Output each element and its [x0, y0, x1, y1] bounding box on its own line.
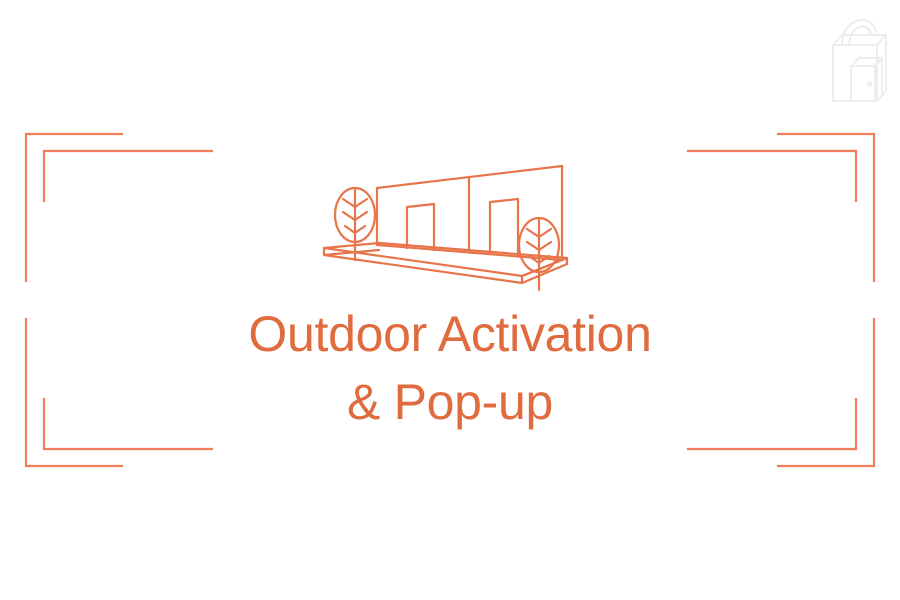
bracket-top-right-inner: [687, 151, 856, 202]
outdoor-storefront-illustration-svg: [322, 152, 578, 300]
title-line-2: & Pop-up: [0, 368, 900, 436]
shopping-bag-icon: [818, 8, 894, 108]
bracket-top-left-inner: [44, 151, 213, 202]
title-line-1: Outdoor Activation: [0, 300, 900, 368]
shopping-bag-icon-svg: [818, 8, 894, 108]
bracket-top-right-outer: [777, 134, 874, 282]
slide-canvas: Outdoor Activation & Pop-up: [0, 0, 900, 600]
bag-handle-inner: [849, 26, 871, 46]
right-doorway: [490, 199, 518, 256]
left-doorway: [407, 204, 434, 250]
bag-front-face: [833, 45, 877, 101]
bracket-top-left-outer: [26, 134, 123, 282]
bag-door-handle-dot: [868, 82, 872, 86]
page-title: Outdoor Activation & Pop-up: [0, 300, 900, 436]
outdoor-storefront-illustration: [322, 152, 578, 300]
